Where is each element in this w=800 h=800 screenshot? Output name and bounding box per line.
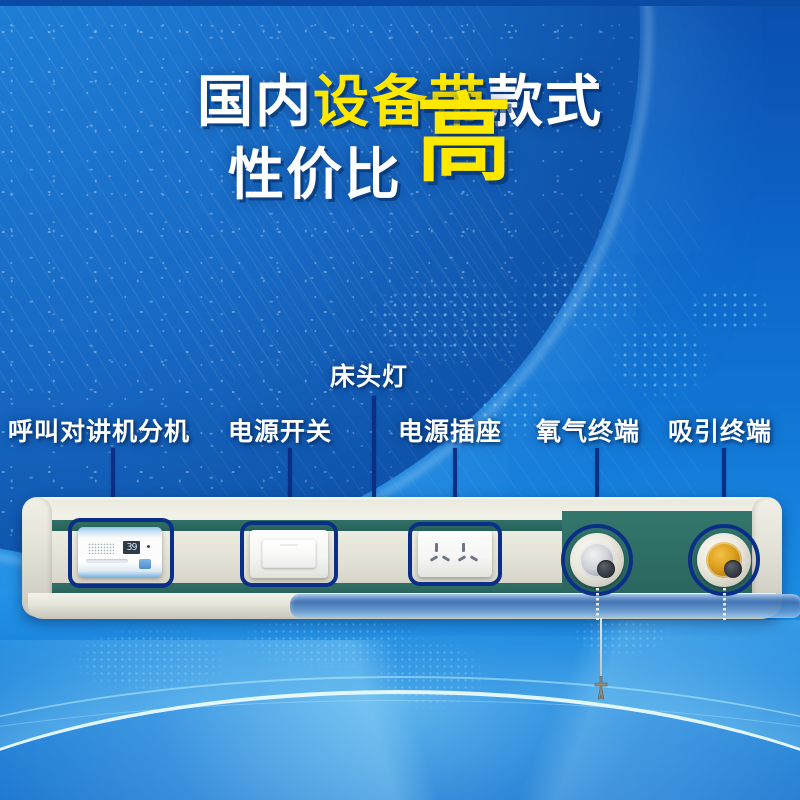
pull-cord-line[interactable] [600,618,602,680]
status-indicator-dot [147,545,150,548]
headline-subtitle: 性价比 [228,147,402,206]
socket-pin-right-a [462,543,465,552]
headline-emphasis-gao: 高 [416,91,514,187]
suction-terminal-ring [706,542,742,578]
headline-line-2: 性价比 高 [0,147,800,206]
callout-label-power-switch: 电源开关 [228,412,332,448]
oxygen-hose-cord [596,588,599,620]
socket-pin-left-c [442,555,450,562]
headline-seg-1: 国内 [197,74,313,133]
oxygen-terminal-port [597,560,615,578]
callout-label-power-socket: 电源插座 [398,412,502,448]
power-switch-rocker[interactable] [262,539,316,568]
speaker-grille-icon [88,543,114,554]
power-socket-faceplate[interactable] [418,531,492,577]
socket-pin-left-a [435,543,438,552]
power-switch-faceplate [250,530,328,578]
oxygen-terminal-ring [579,542,615,578]
nurse-call-intercom-unit[interactable]: 39 [78,527,162,577]
oxygen-terminal-outlet[interactable] [570,533,624,587]
socket-pin-left-b [430,555,438,562]
callout-label-bed-lamp: 床头灯 [330,357,408,393]
nurse-call-display: 39 [123,541,140,554]
nurse-call-button[interactable] [139,559,151,569]
headline-line-1: 国内设备带款式 [0,74,800,133]
socket-pin-right-b [458,555,466,562]
headline-block: 国内设备带款式 性价比 高 [0,74,800,206]
callout-label-suction-outlet: 吸引终端 [668,412,772,448]
pull-cord-handle-icon[interactable] [591,676,611,700]
callout-label-nurse-call: 呼叫对讲机分机 [8,412,190,448]
suction-terminal-outlet[interactable] [697,533,751,587]
suction-hose-cord [723,588,726,620]
suction-terminal-port [724,560,742,578]
callout-label-oxygen-outlet: 氧气终端 [536,412,640,448]
poster-canvas: 国内设备带款式 性价比 高 呼叫对讲机分机 电源开关 床头灯 电源插座 氧气终端… [0,0,800,800]
socket-pin-right-c [470,555,478,562]
top-edge-bar [0,0,800,6]
nurse-call-slot [86,559,128,563]
